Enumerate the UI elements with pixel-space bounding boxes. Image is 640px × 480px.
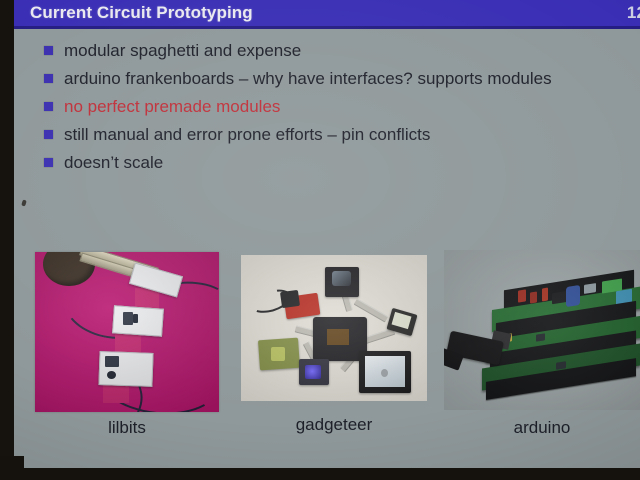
component: [502, 333, 512, 343]
ribbon-cable: [303, 341, 321, 367]
cable: [263, 284, 304, 322]
wire: [57, 265, 162, 347]
ribbon-cable: [339, 285, 353, 312]
presentation-slide: Current Circuit Prototyping 12 modular s…: [14, 0, 640, 468]
module-connector: [135, 288, 159, 310]
arduino-photo: [444, 250, 640, 410]
ribbon-cable: [340, 345, 365, 372]
wire: [128, 277, 219, 341]
square-bullet-icon: [44, 74, 53, 83]
module-face: [392, 312, 412, 329]
pin-header: [496, 301, 636, 341]
ribbon-cable: [361, 328, 395, 345]
list-item: arduino frankenboards – why have interfa…: [44, 68, 634, 90]
figure-row: lilbits: [14, 250, 640, 440]
bullet-list: modular spaghetti and expense arduino fr…: [44, 40, 634, 180]
square-bullet-icon: [44, 46, 53, 55]
list-item: no perfect premade modules: [44, 96, 634, 118]
small-module: [386, 308, 417, 336]
module-connector: [115, 332, 141, 354]
wire: [45, 354, 150, 412]
figure-gadgeteer: gadgeteer: [241, 255, 427, 401]
component: [518, 289, 526, 302]
wire: [81, 375, 159, 412]
green-module: [258, 338, 300, 371]
cable: [241, 263, 304, 320]
ribbon-cable: [295, 325, 326, 339]
chip: [105, 356, 119, 367]
list-item-label: arduino frankenboards – why have interfa…: [64, 68, 552, 89]
lens: [332, 271, 351, 286]
shield-board: [482, 343, 640, 390]
slide-title-banner: Current Circuit Prototyping 12: [14, 0, 640, 29]
list-item-label: modular spaghetti and expense: [64, 40, 301, 61]
figure-caption: lilbits: [35, 418, 219, 438]
pin-header: [486, 358, 636, 400]
gadgeteer-photo: [241, 255, 427, 401]
chip: [123, 312, 133, 325]
lilbits-photo: [35, 252, 219, 412]
display-module: [359, 351, 411, 393]
shield-board: [492, 286, 640, 332]
mainboard-module: [313, 317, 367, 361]
chip: [327, 329, 349, 345]
red-module: [284, 293, 321, 320]
square-bullet-icon: [44, 158, 53, 167]
component: [552, 291, 568, 305]
terminal-block: [602, 278, 622, 293]
usb-connector-tip: [491, 330, 512, 349]
square-bullet-icon: [44, 130, 53, 139]
module-board: [98, 351, 153, 387]
screen-graphic: [381, 369, 388, 377]
usb-cable-plug: [446, 331, 504, 366]
list-item: still manual and error prone efforts – p…: [44, 124, 634, 146]
figure-arduino: arduino: [444, 250, 640, 410]
chip: [133, 314, 138, 323]
component: [530, 291, 537, 303]
module-board: [112, 305, 164, 336]
square-bullet-icon: [44, 102, 53, 111]
slide-number: 12: [627, 3, 640, 23]
photo-frame-corner: [0, 456, 24, 480]
component: [542, 288, 548, 302]
list-item: doesn’t scale: [44, 152, 634, 174]
figure-caption: gadgeteer: [241, 415, 427, 435]
sensor: [271, 347, 285, 361]
wire: [94, 338, 219, 412]
list-item-label: still manual and error prone efforts – p…: [64, 124, 430, 145]
component: [536, 333, 545, 341]
round-component: [43, 252, 95, 286]
component: [616, 289, 632, 306]
figure-lilbits: lilbits: [35, 252, 219, 412]
usb-cable: [444, 345, 464, 370]
pin-header: [490, 330, 636, 371]
metal-strip: [79, 253, 158, 285]
list-item: modular spaghetti and expense: [44, 40, 634, 62]
list-item-label-highlighted: no perfect premade modules: [64, 96, 280, 117]
figure-caption: arduino: [444, 418, 640, 438]
module-board: [129, 263, 183, 298]
metal-strip: [79, 252, 159, 278]
photo-frame-bottom-edge: [0, 468, 640, 480]
screen-dust-speck: [21, 200, 27, 207]
lcd-screen: [365, 356, 405, 387]
module-connector: [103, 383, 129, 403]
component: [556, 361, 566, 370]
chip: [107, 371, 116, 379]
capacitor: [566, 285, 580, 307]
page-title: Current Circuit Prototyping: [30, 3, 253, 23]
pin-header: [504, 270, 634, 311]
photo-frame-left-edge: [0, 0, 14, 480]
connector: [280, 290, 300, 308]
led-module: [299, 359, 329, 385]
list-item-label: doesn’t scale: [64, 152, 163, 173]
ribbon-cable: [354, 298, 389, 322]
projected-slide-photo: Current Circuit Prototyping 12 modular s…: [0, 0, 640, 480]
component: [584, 283, 596, 294]
camera-module: [325, 267, 359, 297]
blue-led: [305, 365, 321, 379]
shield-board: [486, 316, 640, 363]
